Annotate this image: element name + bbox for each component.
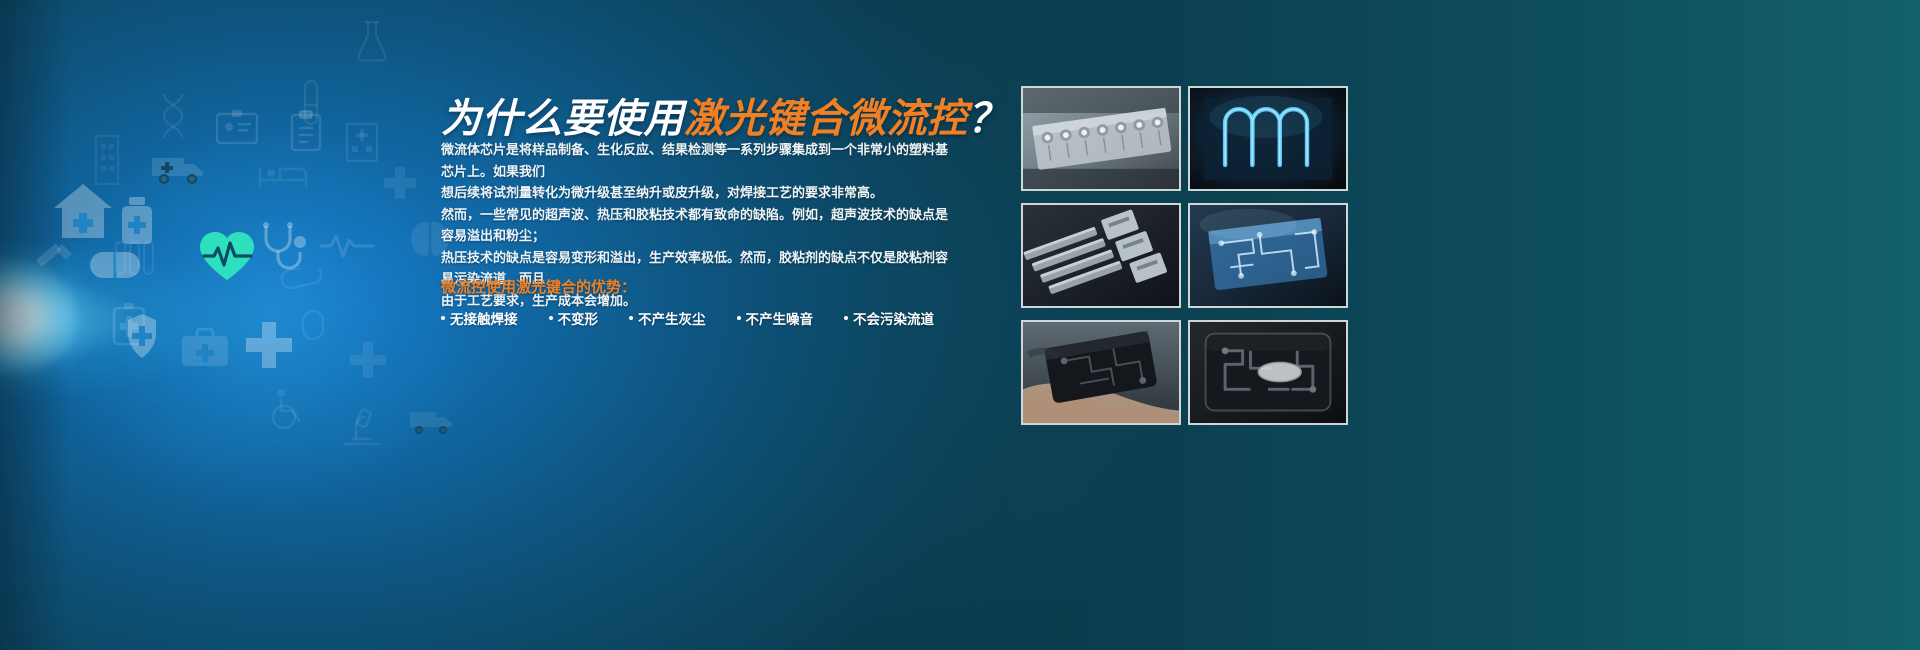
dna-icon — [158, 92, 188, 140]
bullet-dot-icon — [441, 316, 445, 320]
plus-sign-icon — [348, 340, 388, 380]
photo-microfluidic-chip-array[interactable] — [1021, 86, 1181, 191]
clipboard-icon — [290, 110, 322, 152]
cross-shield-icon — [118, 312, 166, 360]
vial-rack-icon — [112, 236, 158, 280]
pill-capsule-icon — [88, 248, 142, 282]
list-item-label: 不变形 — [558, 308, 599, 328]
flask-icon — [355, 18, 389, 64]
advantages-list: 无接触焊接 不变形 不产生灰尘 不产生噪音 不会污染流道 — [441, 308, 934, 328]
photo-serpentine-channel-chip[interactable] — [1188, 86, 1348, 191]
pill-small-icon — [300, 308, 326, 342]
white-cross-icon — [244, 320, 294, 370]
medicine-bottle-icon — [118, 196, 156, 246]
title-highlight: 激光键合微流控 — [684, 97, 968, 141]
hospital-tall-icon — [94, 130, 120, 186]
home-health-icon — [52, 182, 114, 240]
medical-cross-icon — [382, 165, 418, 201]
heart-pulse-icon — [196, 228, 258, 284]
bandage-icon — [278, 268, 322, 294]
paragraph-line: 微流体芯片是将样品制备、生化反应、结果检测等一系列步骤集成到一个非常小的塑料基芯… — [441, 139, 957, 182]
list-item-label: 不产生噪音 — [746, 308, 814, 328]
title-lead: 为什么要使用 — [441, 97, 684, 141]
page-title: 为什么要使用激光键合微流控？ — [441, 86, 1008, 144]
photo-clear-chip-strips[interactable] — [1021, 203, 1181, 308]
promo-banner: 为什么要使用激光键合微流控？ 微流体芯片是将样品制备、生化反应、结果检测等一系列… — [0, 0, 1920, 650]
stethoscope-icon — [258, 222, 310, 272]
ecg-line-icon — [320, 232, 380, 258]
list-item: 不变形 — [549, 308, 599, 328]
advantages-subtitle: 微流控使用激光键合的优势： — [441, 276, 636, 297]
list-item-label: 不产生灰尘 — [638, 308, 706, 328]
test-tube-icon — [300, 78, 322, 128]
product-photo-grid — [1021, 86, 1348, 425]
bullet-dot-icon — [629, 316, 633, 320]
microscope-icon — [340, 406, 384, 448]
bullet-dot-icon — [549, 316, 553, 320]
list-item-label: 不会污染流道 — [853, 308, 934, 328]
bullet-dot-icon — [737, 316, 741, 320]
list-item-label: 无接触焊接 — [450, 308, 518, 328]
wheelchair-icon — [268, 388, 308, 430]
id-card-icon — [216, 110, 258, 144]
medical-kit-icon — [180, 328, 230, 368]
title-question-mark: ？ — [968, 97, 1009, 141]
photo-black-cartridge-chip[interactable] — [1188, 320, 1348, 425]
paragraph-line: 然而，一些常见的超声波、热压和胶粘技术都有致命的缺陷。例如，超声波技术的缺点是容… — [441, 204, 957, 247]
bullet-dot-icon — [844, 316, 848, 320]
list-item: 无接触焊接 — [441, 308, 518, 328]
photo-blue-manifold-chip[interactable] — [1188, 203, 1348, 308]
syringe-icon — [32, 240, 76, 284]
light-beam-core — [0, 235, 130, 400]
hospital-bed-icon — [258, 160, 308, 192]
ambulance-icon — [150, 150, 206, 186]
text-column: 为什么要使用激光键合微流控？ 微流体芯片是将样品制备、生化反应、结果检测等一系列… — [441, 0, 1001, 650]
list-item: 不产生灰尘 — [629, 308, 706, 328]
list-item: 不会污染流道 — [844, 308, 934, 328]
hospital-building-icon — [345, 118, 379, 162]
paragraph-line: 想后续将试剂量转化为微升级甚至纳升或皮升级，对焊接工艺的要求非常高。 — [441, 182, 957, 204]
photo-black-chip-in-hand[interactable] — [1021, 320, 1181, 425]
left-edge-fade — [0, 0, 70, 650]
list-item: 不产生噪音 — [737, 308, 814, 328]
battery-icon — [112, 302, 146, 346]
